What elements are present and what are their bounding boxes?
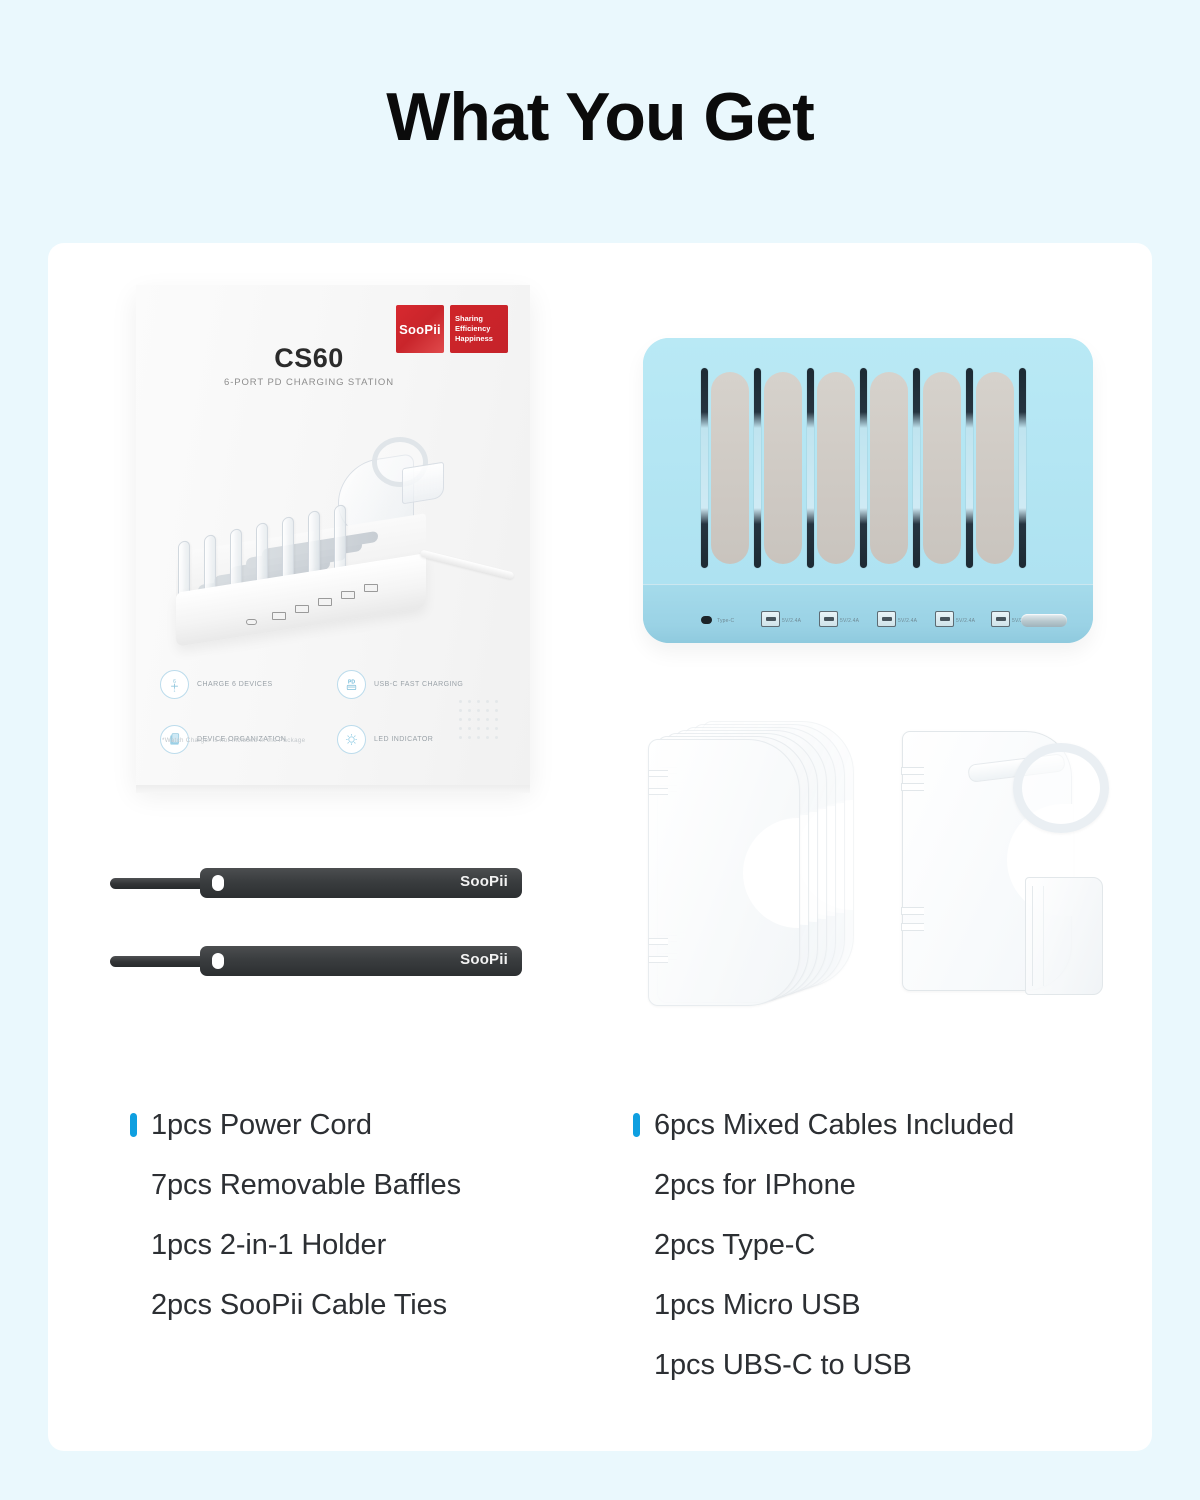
- station-usb-port: [819, 611, 838, 627]
- list-item: 1pcs 2-in-1 Holder: [130, 1215, 461, 1275]
- list-item: 2pcs SooPii Cable Ties: [130, 1275, 461, 1335]
- list-item: 2pcs for IPhone: [633, 1155, 1014, 1215]
- decorative-dot-grid: [459, 700, 504, 745]
- baffle-track: [1019, 368, 1026, 568]
- holder-notch: [901, 783, 924, 791]
- baffle-track: [913, 368, 920, 568]
- device-pad: [817, 372, 855, 564]
- contents-right-column: 6pcs Mixed Cables Included 2pcs for IPho…: [633, 1095, 1014, 1395]
- baffle-track: [966, 368, 973, 568]
- list-item-label: 1pcs 2-in-1 Holder: [151, 1229, 386, 1262]
- slogan-line-1: Sharing: [455, 314, 483, 324]
- contents-left-column: 1pcs Power Cord 7pcs Removable Baffles 1…: [130, 1095, 461, 1335]
- led-indicator-icon: [337, 725, 366, 754]
- slogan-line-2: Efficiency: [455, 324, 490, 334]
- led-indicator: [1021, 614, 1067, 627]
- list-item: 2pcs Type-C: [633, 1215, 1014, 1275]
- cable-tie-body: SooPii: [200, 868, 522, 898]
- removable-baffles-stack: [648, 713, 868, 998]
- product-package-box: SooPii Sharing Efficiency Happiness CS60…: [136, 285, 530, 785]
- list-item-label: 2pcs Type-C: [654, 1229, 815, 1262]
- station-front-panel: Type-C 5V/2.4A 5V/2.4A 5V/2.4A 5V/2.4A 5…: [643, 584, 1093, 643]
- cable-tie-body: SooPii: [200, 946, 522, 976]
- list-item: 7pcs Removable Baffles: [130, 1155, 461, 1215]
- list-item-label: 1pcs UBS-C to USB: [654, 1349, 912, 1382]
- device-pad: [870, 372, 908, 564]
- station-usb-port: [877, 611, 896, 627]
- list-bullet-icon: [633, 1113, 640, 1137]
- list-item: 1pcs Power Cord: [130, 1095, 461, 1155]
- cable-tie-logo: SooPii: [460, 951, 508, 968]
- illustration-usb-port: [364, 584, 378, 592]
- device-pad: [711, 372, 749, 564]
- feature-item-charge-6-devices: 61 CHARGE 6 DEVICES: [160, 670, 331, 699]
- list-item: 1pcs Micro USB: [633, 1275, 1014, 1335]
- svg-text:PD: PD: [348, 680, 355, 686]
- cable-tie: SooPii: [110, 946, 522, 976]
- package-footnote: *Watch Charger is not included in the Pa…: [162, 737, 305, 744]
- port-label: 5V/2.4A: [898, 618, 917, 624]
- list-item-label: 6pcs Mixed Cables Included: [654, 1109, 1014, 1142]
- device-pad: [764, 372, 802, 564]
- cable-ties-group: SooPii SooPii: [110, 868, 540, 988]
- holder-notch: [901, 923, 924, 931]
- charging-station-product: Type-C 5V/2.4A 5V/2.4A 5V/2.4A 5V/2.4A 5…: [643, 338, 1093, 643]
- page-title: What You Get: [0, 78, 1200, 156]
- station-usb-port: [761, 611, 780, 627]
- holder-notch: [901, 767, 924, 775]
- baffle-track: [701, 368, 708, 568]
- port-label: 5V/2.4A: [840, 618, 859, 624]
- package-model-name: CS60: [136, 343, 530, 374]
- illustration-usb-port: [341, 591, 355, 599]
- cable-tie-hole: [212, 953, 224, 969]
- station-usbc-port: [701, 616, 712, 624]
- list-bullet-icon: [130, 1113, 137, 1137]
- illustration-baffle: [334, 504, 346, 572]
- list-item-label: 2pcs for IPhone: [654, 1169, 856, 1202]
- feature-label: CHARGE 6 DEVICES: [197, 681, 273, 688]
- illustration-usb-port: [295, 605, 309, 613]
- cable-tie-logo: SooPii: [460, 873, 508, 890]
- package-subtitle: 6-PORT PD CHARGING STATION: [136, 377, 530, 388]
- holder-clip: [1025, 877, 1103, 995]
- cable-tie: SooPii: [110, 868, 522, 898]
- pd-icon: PD: [337, 670, 366, 699]
- illustration-usb-port: [272, 612, 286, 620]
- feature-label: USB-C FAST CHARGING: [374, 681, 463, 688]
- list-item: 6pcs Mixed Cables Included: [633, 1095, 1014, 1155]
- list-item: 1pcs UBS-C to USB: [633, 1335, 1014, 1395]
- baffle-track: [860, 368, 867, 568]
- illustration-holder-clip: [402, 462, 444, 505]
- port-label: 5V/2.4A: [782, 618, 801, 624]
- watch-charger-ring: [1013, 743, 1109, 833]
- illustration-baffle: [308, 510, 320, 578]
- illustration-usbc-port: [246, 619, 257, 625]
- package-product-illustration: [154, 413, 514, 653]
- station-slot-array: [701, 368, 1041, 568]
- station-usb-port: [991, 611, 1010, 627]
- feature-item-usbc-fast-charging: PD USB-C FAST CHARGING: [337, 670, 508, 699]
- svg-text:1: 1: [174, 689, 176, 693]
- baffle-track: [754, 368, 761, 568]
- list-item-label: 1pcs Micro USB: [654, 1289, 861, 1322]
- baffle-plate: [648, 739, 800, 1006]
- feature-label: LED INDICATOR: [374, 736, 433, 743]
- list-item-label: 7pcs Removable Baffles: [151, 1169, 461, 1202]
- illustration-power-cord: [420, 549, 515, 579]
- cable-tie-hole: [212, 875, 224, 891]
- baffle-track: [807, 368, 814, 568]
- six-devices-icon: 61: [160, 670, 189, 699]
- station-usb-port: [935, 611, 954, 627]
- illustration-usb-port: [318, 598, 332, 606]
- list-item-label: 2pcs SooPii Cable Ties: [151, 1289, 447, 1322]
- port-label: 5V/2.4A: [956, 618, 975, 624]
- list-item-label: 1pcs Power Cord: [151, 1109, 372, 1142]
- device-pad: [923, 372, 961, 564]
- two-in-one-holder: [888, 721, 1113, 1001]
- device-pad: [976, 372, 1014, 564]
- port-label: Type-C: [717, 618, 734, 624]
- holder-notch: [901, 907, 924, 915]
- illustration-2in1-holder: [330, 435, 448, 531]
